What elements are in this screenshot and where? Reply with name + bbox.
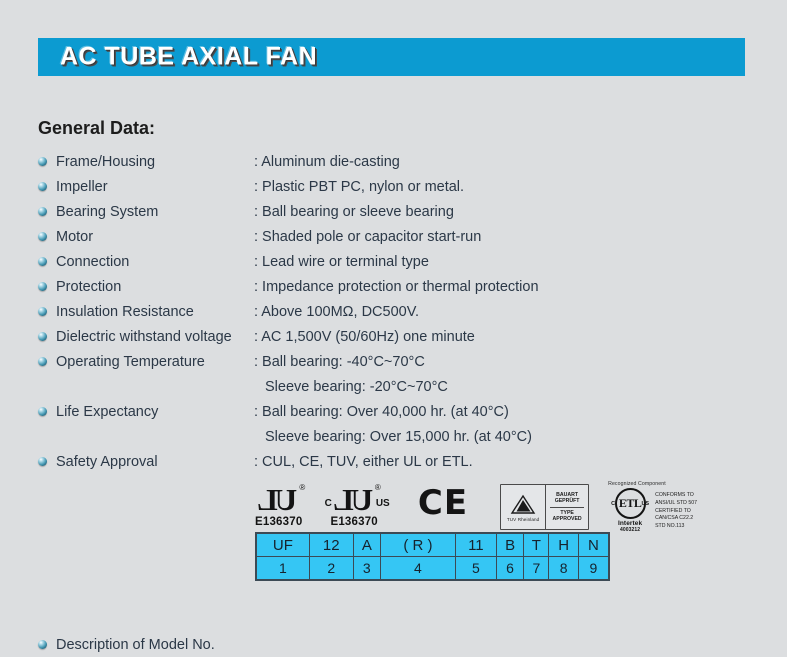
bullet-sphere-icon: [38, 332, 47, 341]
spec-label: Motor: [56, 229, 93, 245]
spec-label-cell: Protection: [38, 279, 254, 295]
spec-label-cell: [38, 382, 254, 391]
spec-label-cell: Description of Model No.: [38, 637, 254, 653]
spec-label-cell: Insulation Resistance: [38, 304, 254, 320]
bullet-sphere-icon: [38, 232, 47, 241]
spec-row: Sleeve bearing: -20°C~70°C: [38, 374, 758, 399]
cul-monogram-icon: UL: [336, 485, 373, 515]
bullet-sphere-icon: [38, 640, 47, 649]
spec-label-cell: Impeller: [38, 179, 254, 195]
spec-row: Protection: Impedance protection or ther…: [38, 274, 758, 299]
spec-label-cell: Safety Approval: [38, 454, 254, 470]
cul-us-logo-icon: C UL ® US E136370: [330, 485, 377, 528]
model-code-cell: 11: [455, 533, 496, 557]
spec-value: Sleeve bearing: -20°C~70°C: [254, 379, 448, 395]
spec-label: Bearing System: [56, 204, 158, 220]
spec-label: Life Expectancy: [56, 404, 158, 420]
spec-value: : Lead wire or terminal type: [254, 254, 429, 270]
model-index-row: 123456789: [256, 557, 609, 581]
etl-conforms-line1: CONFORMS TO: [655, 492, 697, 500]
ul-file-number: E136370: [255, 516, 302, 528]
ce-mark-text: CE: [418, 483, 468, 523]
bullet-sphere-icon: [38, 432, 47, 441]
spec-label: Protection: [56, 279, 121, 295]
model-code-cell: H: [549, 533, 578, 557]
etl-control-number: 4003212: [607, 527, 653, 533]
bullet-sphere-icon: [38, 457, 47, 466]
model-index-cell: 4: [380, 557, 455, 581]
cul-suffix-label: US: [376, 498, 390, 509]
etl-recognized-component-label: Recognized Component: [608, 481, 717, 487]
spec-label-cell: Life Expectancy: [38, 404, 254, 420]
spec-label: Insulation Resistance: [56, 304, 194, 320]
model-code-cell: B: [496, 533, 523, 557]
cul-file-number: E136370: [330, 516, 377, 528]
general-data-heading: General Data:: [38, 118, 155, 139]
spec-row-model-number: Description of Model No.: [38, 632, 758, 657]
spec-row: Frame/Housing: Aluminum die-casting: [38, 149, 758, 174]
spec-value: : Aluminum die-casting: [254, 154, 400, 170]
cul-prefix-label: C: [325, 498, 332, 509]
spec-row: Insulation Resistance: Above 100MΩ, DC50…: [38, 299, 758, 324]
bullet-sphere-icon: [38, 157, 47, 166]
spec-row: Operating Temperature: Ball bearing: -40…: [38, 349, 758, 374]
spec-label-cell: Frame/Housing: [38, 154, 254, 170]
bullet-sphere-icon: [38, 307, 47, 316]
cul-registered-mark: ®: [375, 484, 381, 492]
model-index-cell: 8: [549, 557, 578, 581]
etl-certified-line3: STD NO.113: [655, 523, 697, 531]
tuv-triangle-icon: [509, 494, 537, 516]
model-code-cell: 12: [309, 533, 353, 557]
model-index-cell: 2: [309, 557, 353, 581]
spec-row: Dielectric withstand voltage: AC 1,500V …: [38, 324, 758, 349]
spec-label-cell: Dielectric withstand voltage: [38, 329, 254, 345]
etl-certified-line2: CAN/CSA C22.2: [655, 515, 697, 523]
spec-row: Bearing System: Ball bearing or sleeve b…: [38, 199, 758, 224]
spec-value: : Plastic PBT PC, nylon or metal.: [254, 179, 464, 195]
bullet-sphere-icon: [38, 407, 47, 416]
bullet-sphere-icon: [38, 282, 47, 291]
spec-row: Motor: Shaded pole or capacitor start-ru…: [38, 224, 758, 249]
spec-value: : AC 1,500V (50/60Hz) one minute: [254, 329, 475, 345]
spec-label: Dielectric withstand voltage: [56, 329, 232, 345]
spec-row: Impeller: Plastic PBT PC, nylon or metal…: [38, 174, 758, 199]
spec-value: : Ball bearing or sleeve bearing: [254, 204, 454, 220]
model-index-cell: 7: [524, 557, 549, 581]
spec-value: Sleeve bearing: Over 15,000 hr. (at 40°C…: [254, 429, 532, 445]
spec-row: Life Expectancy: Ball bearing: Over 40,0…: [38, 399, 758, 424]
bullet-sphere-icon: [38, 182, 47, 191]
model-code-cell: ( R ): [380, 533, 455, 557]
spec-label: Impeller: [56, 179, 108, 195]
spec-label: Description of Model No.: [56, 637, 215, 653]
etl-intertek-logo-icon: Recognized Component C ETL US Intertek 4…: [607, 481, 717, 531]
title-banner: AC TUBE AXIAL FAN: [38, 38, 745, 76]
etl-conforms-line2: ANSI/UL STD 507: [655, 500, 697, 508]
etl-suffix-label: US: [641, 501, 649, 507]
bullet-sphere-icon: [38, 207, 47, 216]
spec-label-cell: Motor: [38, 229, 254, 245]
model-number-table: UF12A( R )11BTHN123456789: [255, 532, 610, 581]
ul-logo-icon: UL ® E136370: [255, 485, 302, 528]
tuv-caption: TUV Rheinland: [507, 517, 539, 522]
model-code-cell: T: [524, 533, 549, 557]
page-title: AC TUBE AXIAL FAN: [60, 43, 317, 72]
spec-label-cell: [38, 432, 254, 441]
model-code-cell: A: [353, 533, 380, 557]
spec-label: Safety Approval: [56, 454, 158, 470]
model-code-cell: UF: [256, 533, 309, 557]
spec-value: : Ball bearing: -40°C~70°C: [254, 354, 425, 370]
bullet-sphere-icon: [38, 257, 47, 266]
spec-row: Safety Approval: CUL, CE, TUV, either UL…: [38, 449, 758, 474]
etl-intertek-label: Intertek: [607, 520, 653, 527]
etl-prefix-label: C: [611, 501, 615, 507]
tuv-divider: [550, 507, 584, 508]
spec-value: : Ball bearing: Over 40,000 hr. (at 40°C…: [254, 404, 509, 420]
spec-row: Connection: Lead wire or terminal type: [38, 249, 758, 274]
ce-logo-icon: CE: [418, 483, 468, 523]
spec-value: : Above 100MΩ, DC500V.: [254, 304, 419, 320]
bullet-sphere-icon: [38, 357, 47, 366]
spec-label-cell: Connection: [38, 254, 254, 270]
spec-value: : Impedance protection or thermal protec…: [254, 279, 539, 295]
tuv-rheinland-logo-icon: TUV Rheinland BAUART GEPRÜFT TYPE APPROV…: [500, 484, 589, 530]
ul-monogram-icon: UL: [260, 485, 297, 515]
tuv-line4: APPROVED: [553, 516, 582, 523]
spec-label: Frame/Housing: [56, 154, 155, 170]
model-index-cell: 3: [353, 557, 380, 581]
spec-label-cell: Bearing System: [38, 204, 254, 220]
model-code-cell: N: [578, 533, 609, 557]
spec-label-cell: Operating Temperature: [38, 354, 254, 370]
etl-certified-line1: CERTIFIED TO: [655, 508, 697, 516]
ul-registered-mark: ®: [299, 484, 305, 492]
model-index-cell: 6: [496, 557, 523, 581]
spec-value: : Shaded pole or capacitor start-run: [254, 229, 481, 245]
spec-label: Operating Temperature: [56, 354, 205, 370]
model-index-cell: 5: [455, 557, 496, 581]
model-index-cell: 1: [256, 557, 309, 581]
model-number-table-body: UF12A( R )11BTHN123456789: [256, 533, 609, 580]
certification-logos: UL ® E136370 C UL ® US E136370 CE TUV Rh…: [255, 481, 717, 533]
bullet-sphere-icon: [38, 382, 47, 391]
tuv-line2: GEPRÜFT: [555, 498, 580, 505]
model-code-row: UF12A( R )11BTHN: [256, 533, 609, 557]
spec-row: Sleeve bearing: Over 15,000 hr. (at 40°C…: [38, 424, 758, 449]
model-index-cell: 9: [578, 557, 609, 581]
spec-value: : CUL, CE, TUV, either UL or ETL.: [254, 454, 473, 470]
spec-label: Connection: [56, 254, 129, 270]
